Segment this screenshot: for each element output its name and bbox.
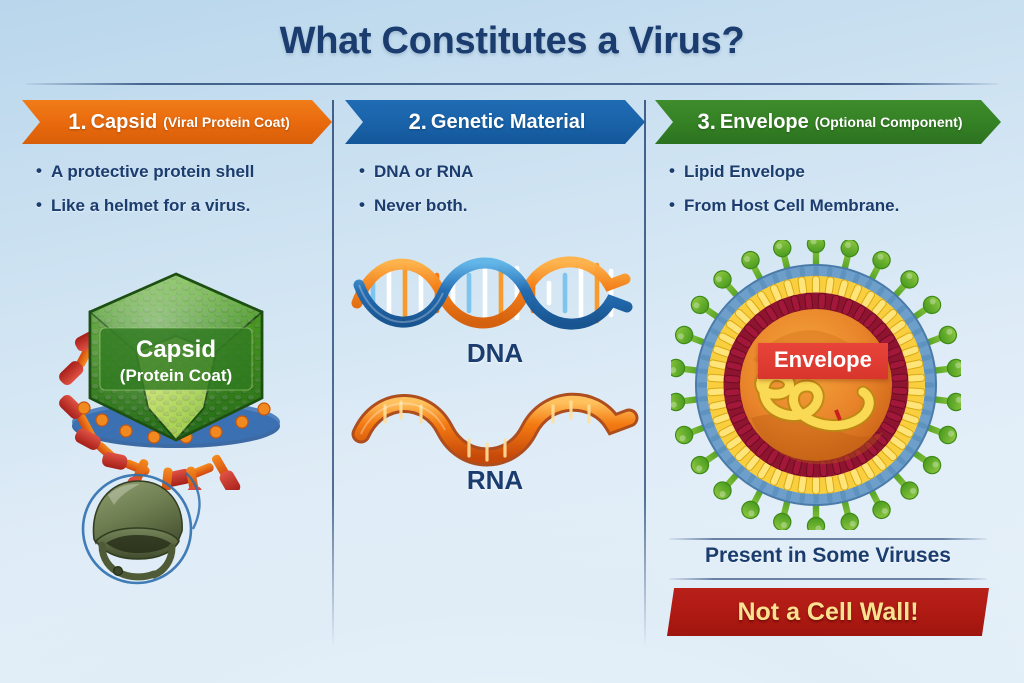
banner-genetic-number: 2. [409, 109, 427, 135]
list-item: • A protective protein shell [36, 162, 332, 182]
dna-label: DNA [345, 338, 645, 369]
list-item-label: A protective protein shell [51, 162, 254, 182]
capsid-label-primary: Capsid [136, 336, 216, 363]
infographic-canvas: What Constitutes a Virus? 1. Capsid (Vir… [0, 0, 1024, 683]
banner-genetic-title: Genetic Material [431, 111, 586, 134]
bullets-envelope: • Lipid Envelope • From Host Cell Membra… [655, 162, 1001, 215]
bullet-dot-icon: • [359, 196, 365, 215]
bullet-dot-icon: • [36, 196, 42, 215]
column-capsid: 1. Capsid (Viral Protein Coat) • A prote… [22, 100, 332, 229]
helmet-icon [93, 481, 182, 577]
enveloped-virion-figure [671, 240, 961, 530]
column-divider-1 [332, 100, 334, 648]
list-item: • Like a helmet for a virus. [36, 196, 332, 216]
list-item-label: Like a helmet for a virus. [51, 196, 250, 216]
warning-banner: Not a Cell Wall! [667, 588, 989, 636]
banner-capsid-subtitle: (Viral Protein Coat) [163, 114, 290, 130]
capsid-label-secondary: (Protein Coat) [120, 366, 232, 385]
bullets-genetic-material: • DNA or RNA • Never both. [345, 162, 645, 215]
bullet-dot-icon: • [669, 196, 675, 215]
warning-banner-label: Not a Cell Wall! [737, 598, 918, 627]
banner-envelope-subtitle: (Optional Component) [815, 114, 963, 130]
dna-double-helix-figure [345, 245, 645, 340]
list-item: • From Host Cell Membrane. [669, 196, 1001, 216]
list-item: • DNA or RNA [359, 162, 645, 182]
bullet-dot-icon: • [36, 162, 42, 181]
column-genetic-material: 2. Genetic Material • DNA or RNA • Never… [345, 100, 645, 229]
military-helmet-callout [74, 455, 220, 591]
dna-rungs [373, 265, 611, 321]
list-item-label: From Host Cell Membrane. [684, 196, 899, 216]
column-envelope: 3. Envelope (Optional Component) • Lipid… [655, 100, 1001, 229]
banner-envelope-number: 3. [697, 109, 715, 135]
list-item: • Never both. [359, 196, 645, 216]
note-divider-bottom [669, 578, 987, 580]
icosahedral-capsid-figure: Capsid (Protein Coat) [26, 240, 326, 490]
banner-genetic-material: 2. Genetic Material [345, 100, 645, 144]
banner-capsid-number: 1. [68, 109, 86, 135]
title-divider [26, 83, 998, 85]
list-item: • Lipid Envelope [669, 162, 1001, 182]
bullets-capsid: • A protective protein shell • Like a he… [22, 162, 332, 215]
banner-envelope: 3. Envelope (Optional Component) [655, 100, 1001, 144]
banner-capsid-title: Capsid [91, 111, 158, 134]
rna-single-strand-figure [345, 390, 645, 472]
banner-envelope-title: Envelope [720, 111, 809, 134]
list-item-label: Never both. [374, 196, 468, 216]
list-item-label: Lipid Envelope [684, 162, 805, 182]
bullet-dot-icon: • [669, 162, 675, 181]
list-item-label: DNA or RNA [374, 162, 473, 182]
banner-capsid: 1. Capsid (Viral Protein Coat) [22, 100, 332, 144]
bullet-dot-icon: • [359, 162, 365, 181]
page-title: What Constitutes a Virus? [0, 20, 1024, 63]
rna-label: RNA [345, 465, 645, 496]
note-divider-top [669, 538, 987, 540]
envelope-note: Present in Some Viruses [655, 544, 1001, 568]
envelope-chip-label: Envelope [758, 343, 888, 379]
